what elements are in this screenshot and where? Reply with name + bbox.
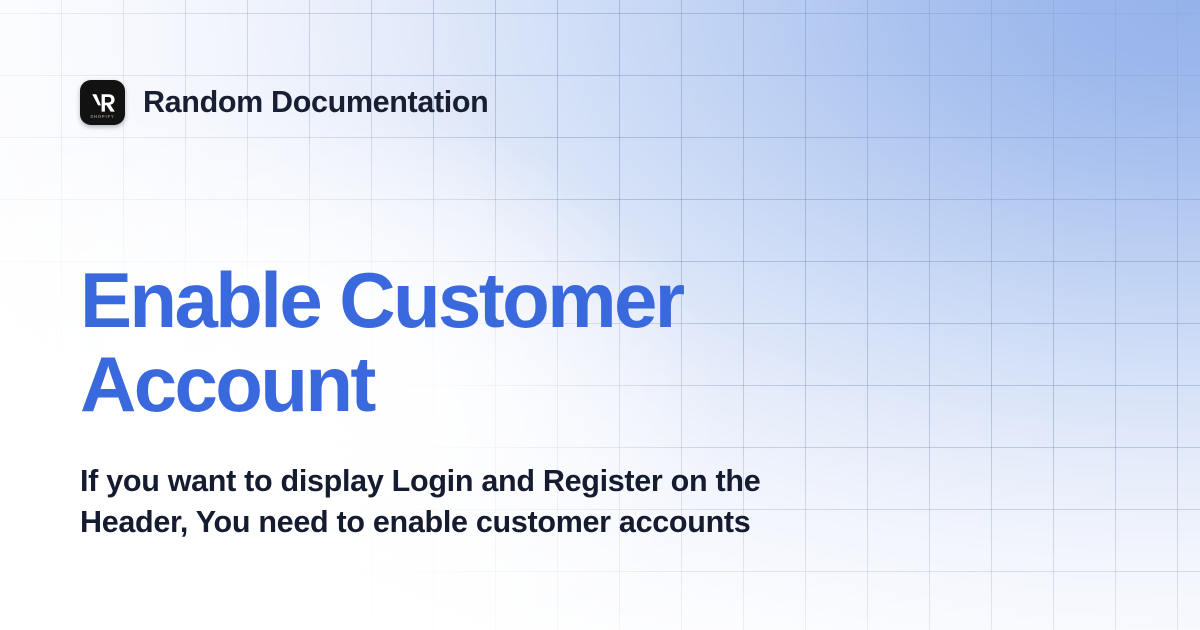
brand-header: SHOPIFY Random Documentation xyxy=(80,80,488,125)
og-card: SHOPIFY Random Documentation Enable Cust… xyxy=(0,0,1200,630)
r-monogram-logo-icon: SHOPIFY xyxy=(80,80,125,125)
page-title: Enable Customer Account xyxy=(80,258,880,426)
page-subtitle: If you want to display Login and Registe… xyxy=(80,461,870,543)
card-content: SHOPIFY Random Documentation Enable Cust… xyxy=(0,0,1200,630)
logo-subtext: SHOPIFY xyxy=(80,114,125,119)
brand-name: Random Documentation xyxy=(143,87,488,118)
